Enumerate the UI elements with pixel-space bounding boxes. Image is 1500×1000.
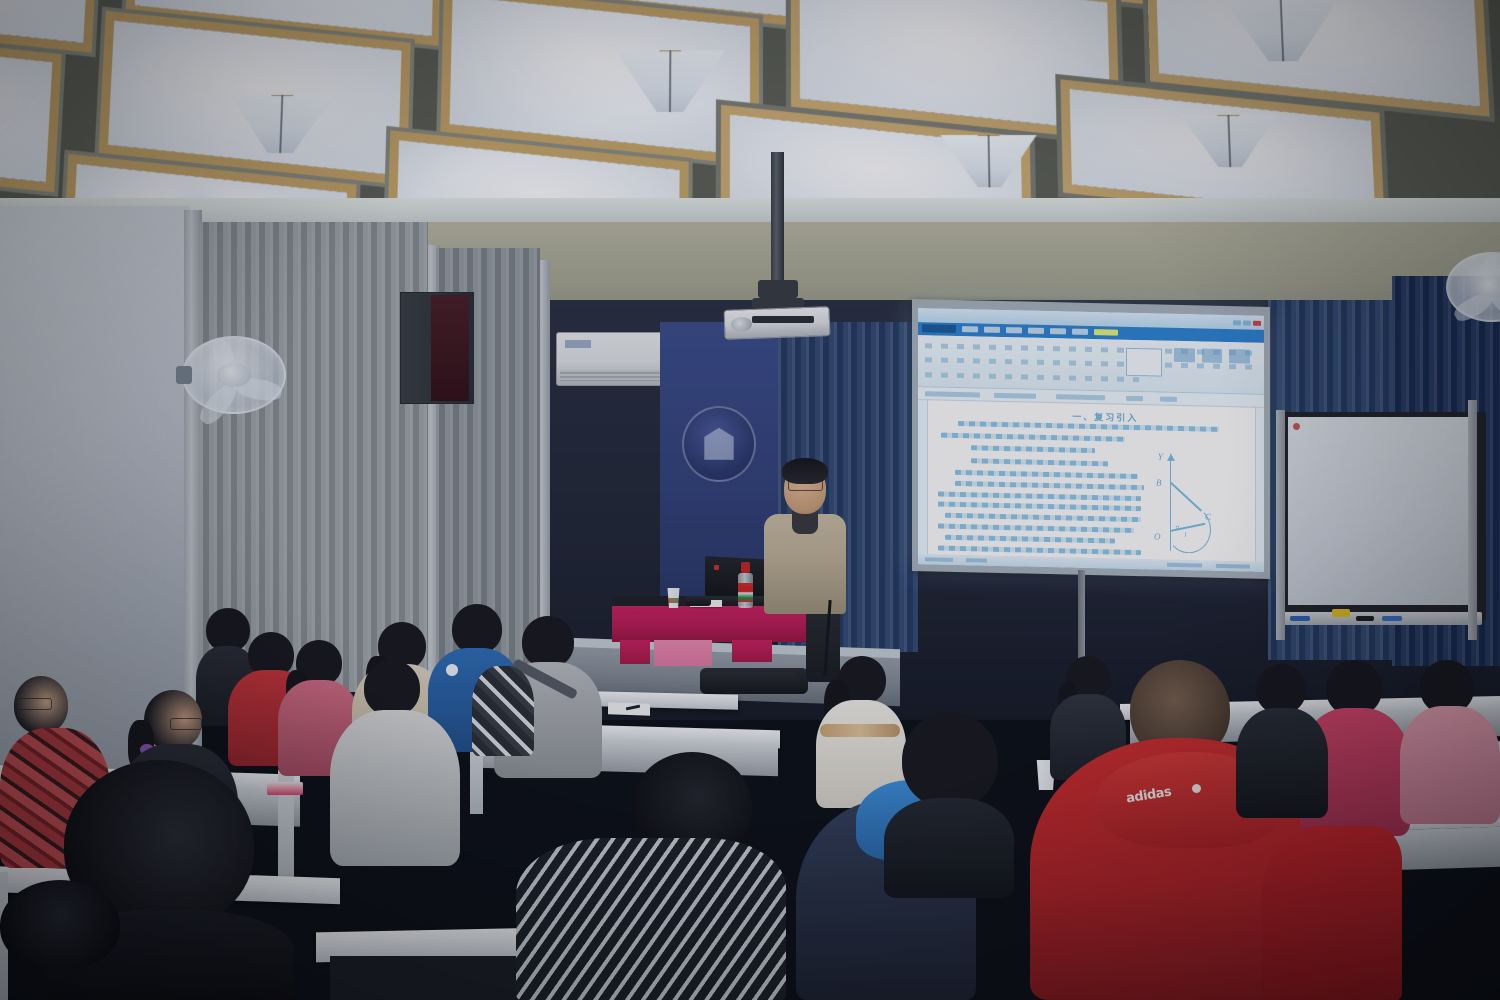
bag-on-podium[interactable] [685, 596, 711, 606]
ceiling-panel [0, 38, 52, 182]
projected-application-window: 一、复习引入 Y B C [918, 308, 1264, 572]
toolbar-item[interactable] [994, 392, 1036, 398]
document-heading: 一、复习引入 [1072, 409, 1138, 423]
student-glasses [170, 718, 202, 730]
ribbon-toolbar[interactable] [918, 335, 1264, 395]
ribbon-tab[interactable] [1028, 328, 1044, 334]
wall-fan-left [182, 336, 286, 414]
student-chevron-jacket [516, 752, 786, 1000]
student-head [902, 712, 998, 808]
projector-cables [752, 316, 814, 323]
chevron-pattern-jacket [516, 838, 786, 1000]
emblem-gate-graphic [698, 428, 740, 460]
podium-foot-left [620, 640, 650, 664]
student-center-dark-head [884, 712, 1014, 892]
toolbar-item[interactable] [925, 391, 980, 397]
point-label-o: O [1154, 531, 1161, 541]
document-text-line [938, 491, 1141, 501]
presenter [748, 452, 848, 682]
ribbon-style-box[interactable] [1126, 348, 1163, 376]
ribbon-icon-row [925, 372, 1140, 382]
document-text-line [971, 458, 1108, 466]
wall-fan-right [1446, 252, 1500, 322]
student-center-gray-sweater [330, 660, 460, 860]
document-page[interactable]: 一、复习引入 Y B C [928, 400, 1255, 562]
toolbar-item[interactable] [1056, 394, 1104, 400]
ribbon-large-button[interactable] [1202, 349, 1223, 363]
student-head [364, 660, 420, 716]
document-text-line [955, 470, 1138, 479]
wall-speaker [400, 292, 474, 404]
laptop-logo-icon [714, 565, 719, 570]
marker-blue-1[interactable] [1290, 616, 1310, 621]
whiteboard-marker-dot-icon [1293, 423, 1300, 430]
student-sweater-gray [330, 710, 460, 866]
ceiling-soffit [0, 198, 1500, 224]
document-text-line [955, 481, 1145, 490]
document-text-line [938, 545, 1141, 555]
student-glasses [16, 698, 52, 710]
lecture-hall-photo: 一、复习引入 Y B C [0, 0, 1500, 1000]
marker-blue-2[interactable] [1382, 616, 1402, 621]
interactive-whiteboard[interactable] [1283, 412, 1486, 620]
axis-label-y: Y [1158, 452, 1163, 462]
toolbar-item[interactable] [1160, 396, 1177, 401]
fan-mount [176, 366, 193, 385]
presenter-glasses [788, 480, 823, 491]
projector-lens [731, 317, 752, 332]
document-text-line [941, 433, 1124, 442]
maximize-button[interactable] [1243, 320, 1251, 325]
air-conditioner [556, 332, 668, 386]
whiteboard-leg-left [1276, 410, 1285, 640]
student-right-dark [1236, 664, 1328, 814]
document-text-line [945, 534, 1115, 543]
close-button[interactable] [1253, 320, 1261, 325]
document-text-line [945, 513, 1141, 522]
podium-front-panel [654, 640, 712, 666]
status-item [1167, 563, 1202, 568]
status-item [966, 559, 987, 563]
document-text-line [971, 446, 1095, 454]
screen-stand [1078, 570, 1085, 670]
projector-pole [771, 152, 784, 282]
student-foreground-bottom-left [0, 880, 170, 1000]
minimize-button[interactable] [1233, 320, 1241, 325]
unit-circle-diagram: Y B C O α l [1144, 450, 1242, 557]
status-item [925, 558, 953, 563]
status-item [1216, 564, 1251, 569]
whiteboard-leg-right [1468, 400, 1477, 640]
speaker-face [431, 295, 468, 401]
toolbar-item[interactable] [1126, 395, 1143, 400]
ac-vent [560, 370, 663, 381]
ac-logo [565, 340, 591, 348]
ribbon-tab[interactable] [1072, 329, 1088, 335]
ceiling-projector [724, 306, 831, 340]
adidas-circle-icon [1192, 784, 1201, 793]
ribbon-large-button[interactable] [1229, 349, 1250, 363]
student-back-plaid [472, 646, 534, 756]
fan-hub [1477, 276, 1500, 298]
university-emblem [682, 406, 756, 482]
point-label-b: B [1156, 477, 1162, 487]
whiteboard-surface[interactable] [1288, 417, 1471, 605]
student-head [1256, 664, 1306, 714]
ribbon-tab-active[interactable] [1094, 330, 1118, 337]
app-logo-icon [922, 325, 956, 334]
projector-bracket [758, 280, 798, 298]
student-jacket-plaid [472, 666, 534, 756]
marker-yellow[interactable] [1332, 609, 1350, 617]
student-head [0, 880, 120, 970]
y-axis-arrow [1167, 454, 1175, 461]
student-jacket-red [1262, 826, 1402, 1000]
student-foreground-red-right [1262, 826, 1402, 1000]
marker-dark[interactable] [1356, 616, 1374, 621]
student-jacket-lightpink [1400, 706, 1500, 824]
ribbon-large-button[interactable] [1174, 348, 1195, 362]
document-text-line [938, 523, 1134, 532]
student-jacket-dark [884, 798, 1014, 898]
ribbon-tab[interactable] [984, 327, 1000, 333]
projection-screen: 一、复习引入 Y B C [918, 308, 1264, 572]
student-jacket-dark [1236, 708, 1328, 818]
document-text-line [938, 502, 1141, 512]
ribbon-tab[interactable] [962, 327, 978, 333]
ceiling-panel [800, 0, 1111, 131]
ribbon-tab[interactable] [1006, 328, 1022, 334]
student-far-right-pink [1400, 660, 1500, 820]
fan-hub [217, 363, 250, 388]
ceiling-panel [0, 0, 91, 43]
ribbon-tab[interactable] [1050, 329, 1066, 335]
bag-on-desk-back[interactable] [702, 672, 800, 694]
